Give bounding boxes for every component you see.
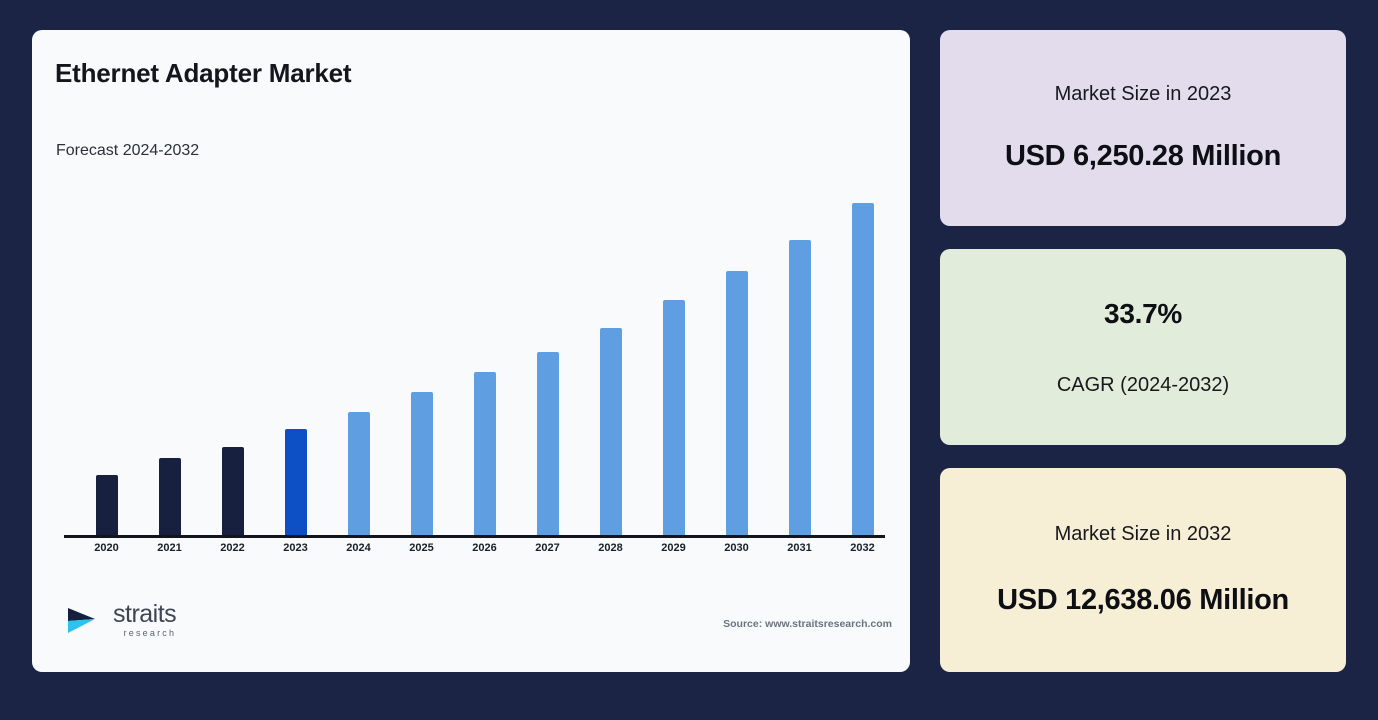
source-attribution: Source: www.straitsresearch.com [723,618,892,630]
bar-2021 [159,458,181,535]
bar-slot [705,150,768,535]
logo-wordmark: straits [113,602,176,627]
bar-slot [138,150,201,535]
bar-2027 [537,352,559,535]
tick-label-2029: 2029 [642,542,705,554]
bar-2025 [411,392,433,535]
stat-card-value: USD 6,250.28 Million [1005,140,1281,173]
bar-slot [516,150,579,535]
tick-label-2031: 2031 [768,542,831,554]
bar-chart-plot: 2020202120222023202420252026202720282029… [32,30,910,672]
stat-card-label: Market Size in 2032 [1055,523,1232,546]
bar-2032 [852,203,874,535]
bar-2031 [789,240,811,535]
stat-card-market-size-2023: Market Size in 2023 USD 6,250.28 Million [940,30,1346,226]
logo-text: straits research [113,602,176,638]
tick-label-2021: 2021 [138,542,201,554]
bar-series [64,150,885,535]
x-axis-line [64,535,885,538]
stat-card-cagr: 33.7% CAGR (2024-2032) [940,249,1346,445]
tick-label-2032: 2032 [831,542,894,554]
bar-2030 [726,271,748,535]
stat-card-label: Market Size in 2023 [1055,83,1232,106]
bar-slot [327,150,390,535]
bar-slot [579,150,642,535]
straits-research-logo: straits research [65,600,176,640]
bar-2028 [600,328,622,535]
chart-panel: Ethernet Adapter Market Forecast 2024-20… [32,30,910,672]
tick-label-2023: 2023 [264,542,327,554]
stat-card-list: Market Size in 2023 USD 6,250.28 Million… [940,30,1346,672]
poster-root: Ethernet Adapter Market Forecast 2024-20… [0,0,1378,720]
bar-2026 [474,372,496,535]
bar-slot [642,150,705,535]
bar-2022 [222,447,244,535]
stat-card-market-size-2032: Market Size in 2032 USD 12,638.06 Millio… [940,468,1346,672]
tick-label-2026: 2026 [453,542,516,554]
tick-label-2028: 2028 [579,542,642,554]
tick-label-2022: 2022 [201,542,264,554]
stat-card-value: 33.7% [1104,298,1182,330]
bar-slot [768,150,831,535]
tick-label-2025: 2025 [390,542,453,554]
bar-slot [453,150,516,535]
bar-slot [264,150,327,535]
bar-slot [201,150,264,535]
tick-label-2027: 2027 [516,542,579,554]
bar-2029 [663,300,685,535]
tick-label-2024: 2024 [327,542,390,554]
bar-2024 [348,412,370,535]
bar-2020 [96,475,118,535]
straits-arrow-icon [65,600,105,640]
bar-2023 [285,429,307,535]
bar-slot [75,150,138,535]
stat-card-value: USD 12,638.06 Million [997,584,1289,617]
tick-label-2030: 2030 [705,542,768,554]
bar-slot [831,150,894,535]
stat-card-label: CAGR (2024-2032) [1057,374,1229,397]
logo-tagline: research [113,629,176,638]
bar-slot [390,150,453,535]
tick-label-2020: 2020 [75,542,138,554]
